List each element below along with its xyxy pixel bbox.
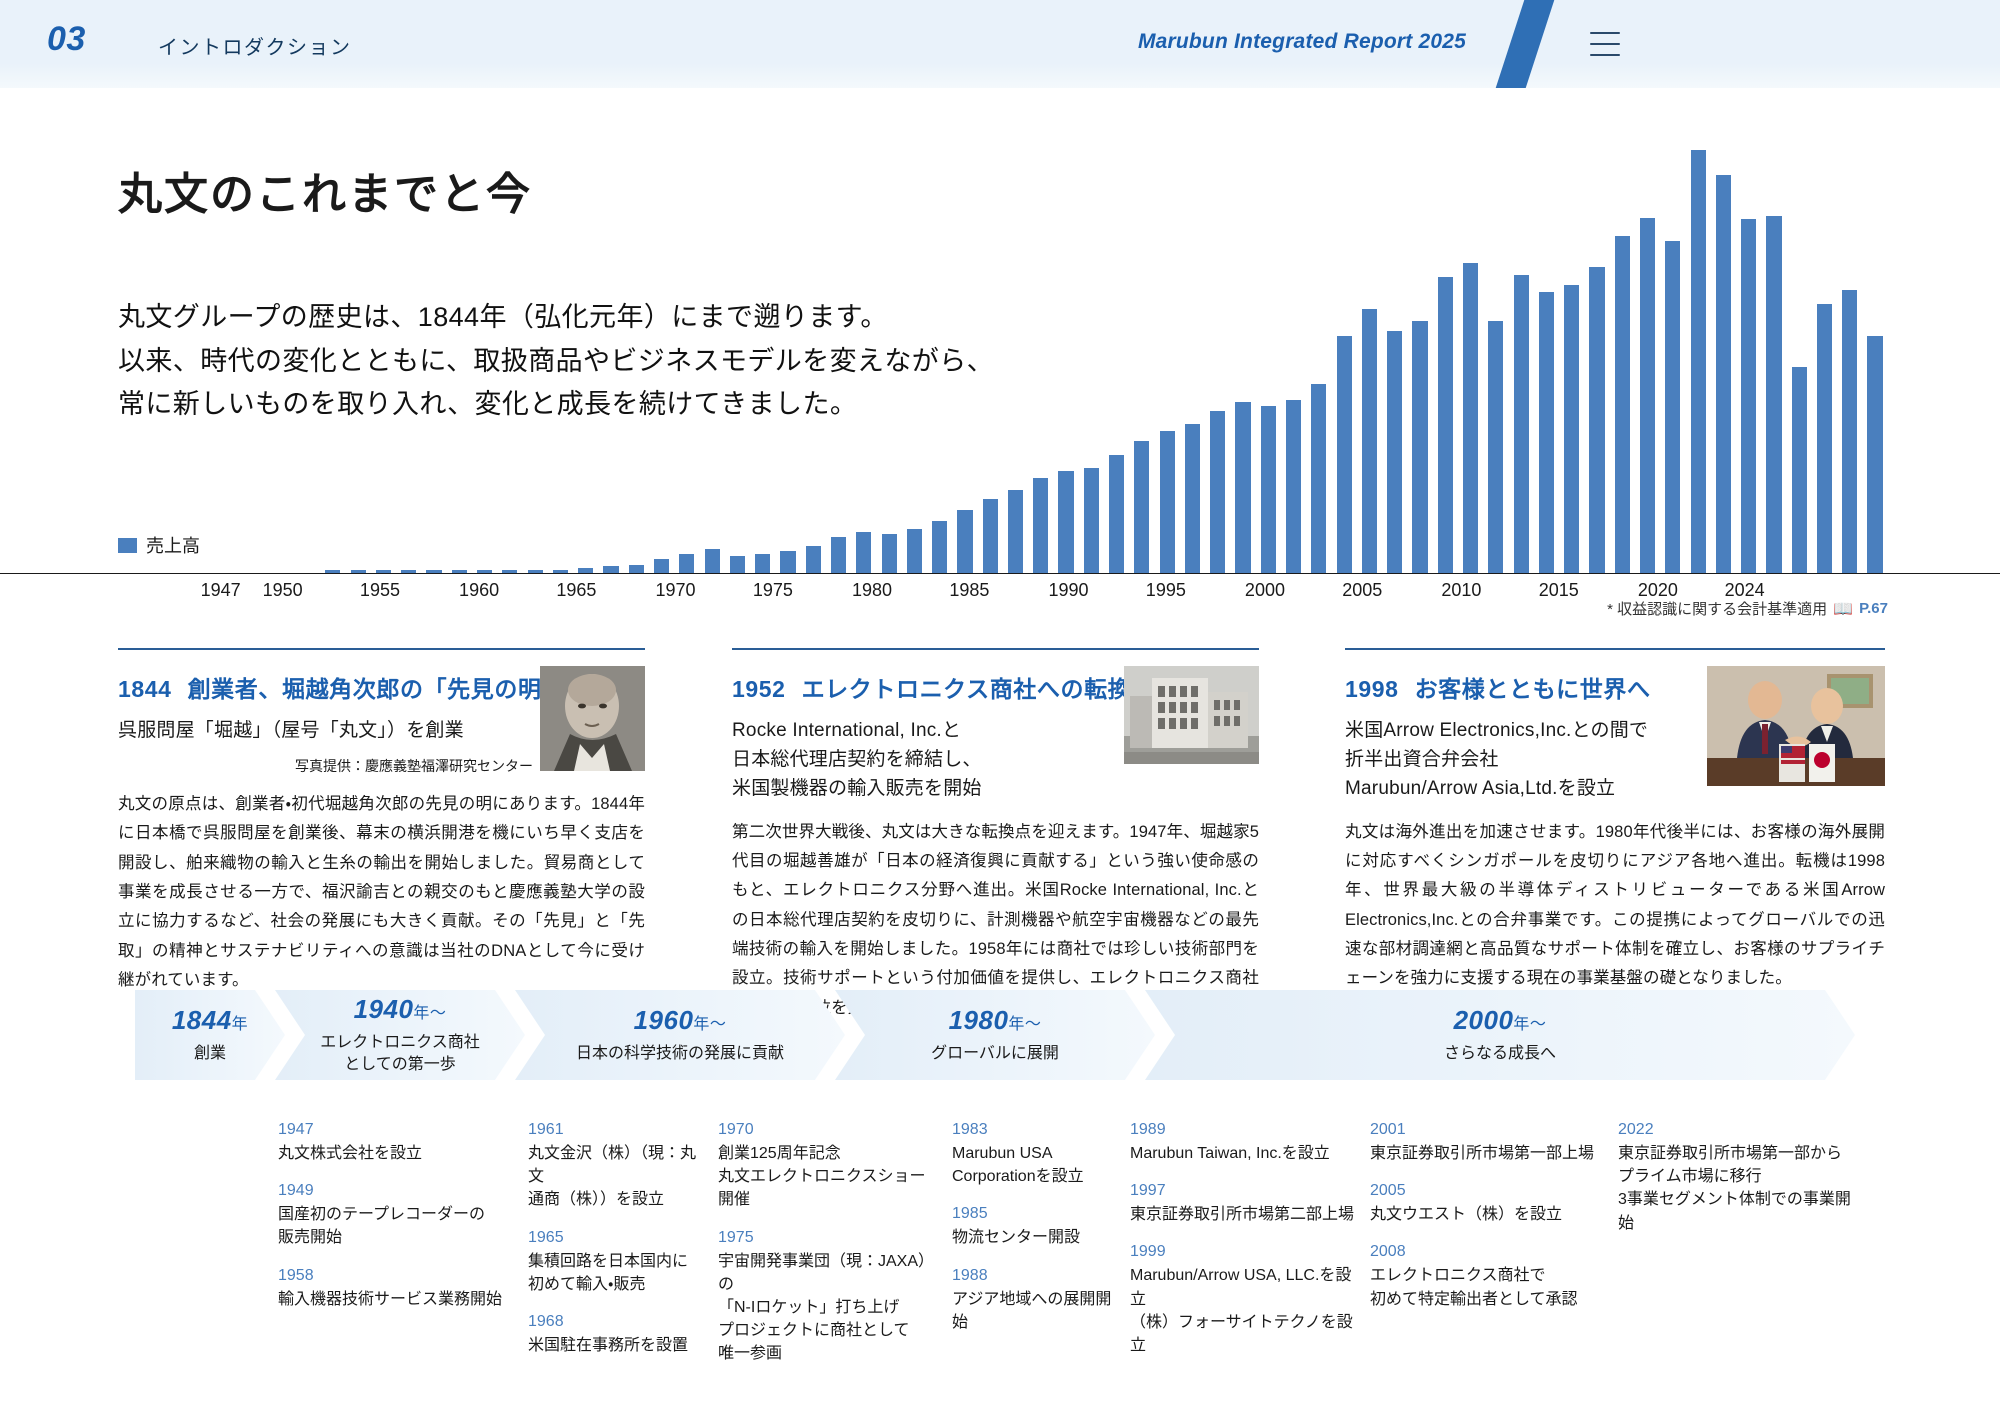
chart-bar xyxy=(983,499,998,573)
bar-slot xyxy=(1458,140,1483,573)
bar-slot xyxy=(396,140,421,573)
phase-description: 創業 xyxy=(194,1043,226,1065)
chart-bar xyxy=(1589,267,1604,573)
bar-slot xyxy=(244,140,269,573)
chart-bar xyxy=(629,565,644,573)
phase-year: 2000年～ xyxy=(1454,1005,1547,1036)
chart-bar xyxy=(730,556,745,573)
chart-bar xyxy=(1792,367,1807,573)
bar-slot xyxy=(1332,140,1357,573)
chart-bar xyxy=(1842,290,1857,573)
page-number: 03 xyxy=(47,20,86,59)
bar-slot xyxy=(1610,140,1635,573)
event-year: 1961 xyxy=(528,1118,703,1142)
card-subtitle: Rocke International, Inc.と 日本総代理店契約を締結し、… xyxy=(732,717,1132,804)
bar-slot xyxy=(1281,140,1306,573)
chart-bar xyxy=(1058,471,1073,573)
report-title: Marubun Integrated Report 2025 xyxy=(1138,30,1466,54)
bar-slot xyxy=(194,140,219,573)
event-item: 1999Marubun/Arrow USA, LLC.を設立 （株）フォーサイト… xyxy=(1130,1240,1355,1357)
event-text: 米国駐在事務所を設置 xyxy=(528,1334,703,1357)
chart-bar xyxy=(856,532,871,573)
bar-slot xyxy=(1053,140,1078,573)
chart-bar xyxy=(1640,218,1655,573)
card-heading-text: エレクトロニクス商社への転換 xyxy=(802,676,1132,702)
event-item: 1975宇宙開発事業団（現：JAXA）の 「N-Iロケット」打ち上げ プロジェク… xyxy=(718,1226,938,1366)
report-page: 03 イントロダクション Marubun Integrated Report 2… xyxy=(0,0,2000,1415)
card-body-text: 丸文の原点は、創業者・初代堀越角次郎の先見の明にあります。1844年に日本橋で呉… xyxy=(118,790,645,996)
chart-bar xyxy=(603,566,618,573)
event-item: 1968米国駐在事務所を設置 xyxy=(528,1310,703,1357)
card-top-rule xyxy=(732,648,1259,650)
timeline-phase-1980: 1980年～グローバルに展開 xyxy=(835,990,1155,1080)
bar-slot xyxy=(346,140,371,573)
event-year: 1958 xyxy=(278,1264,508,1288)
phase-description: さらなる成長へ xyxy=(1444,1043,1556,1065)
event-year: 1975 xyxy=(718,1226,938,1250)
phase-description: グローバルに展開 xyxy=(931,1043,1059,1065)
bar-slot xyxy=(270,140,295,573)
event-text: 東京証券取引所市場第一部上場 xyxy=(1370,1142,1600,1165)
event-year: 2008 xyxy=(1370,1240,1600,1264)
bar-slot xyxy=(497,140,522,573)
chart-bar xyxy=(1691,150,1706,573)
card-year: 1998 xyxy=(1345,676,1399,702)
bar-slot xyxy=(548,140,573,573)
bar-slot xyxy=(1812,140,1837,573)
bar-slot xyxy=(1003,140,1028,573)
chart-bar xyxy=(1109,455,1124,573)
bar-slot xyxy=(1230,140,1255,573)
chart-bar xyxy=(1665,241,1680,573)
event-text: 宇宙開発事業団（現：JAXA）の 「N-Iロケット」打ち上げ プロジェクトに商社… xyxy=(718,1250,938,1366)
event-item: 2001東京証券取引所市場第一部上場 xyxy=(1370,1118,1600,1165)
bar-slot xyxy=(1711,140,1736,573)
event-text: アジア地域への展開開始 xyxy=(952,1288,1122,1334)
timeline-phase-1844: 1844年創業 xyxy=(135,990,285,1080)
event-column: 1947丸文株式会社を設立1949国産初のテープレコーダーの 販売開始1958輸… xyxy=(278,1118,508,1325)
x-axis-tick-label: 1975 xyxy=(753,580,793,601)
x-axis-tick-label: 2005 xyxy=(1342,580,1382,601)
event-year: 1949 xyxy=(278,1179,508,1203)
chart-bar xyxy=(1488,321,1503,573)
event-text: 輸入機器技術サービス業務開始 xyxy=(278,1288,508,1311)
event-year: 1968 xyxy=(528,1310,703,1334)
event-item: 1989Marubun Taiwan, Inc.を設立 xyxy=(1130,1118,1355,1165)
chart-bar xyxy=(907,529,922,573)
bar-slot xyxy=(472,140,497,573)
chart-bar xyxy=(1615,236,1630,573)
chart-bar xyxy=(1741,219,1756,573)
chart-bar xyxy=(1463,263,1478,573)
chart-footnote: * 収益認識に関する会計基準適用 📖 P.67 xyxy=(1607,598,1888,619)
bar-slot xyxy=(1079,140,1104,573)
phase-year: 1940年～ xyxy=(354,994,447,1025)
event-text: 丸文金沢（株）（現：丸文 通商（株））を設立 xyxy=(528,1142,703,1212)
timeline-phase-1960: 1960年～日本の科学技術の発展に貢献 xyxy=(515,990,845,1080)
card-year: 1844 xyxy=(118,676,172,702)
bar-slot xyxy=(1104,140,1129,573)
event-year: 1988 xyxy=(952,1264,1122,1288)
chart-bar xyxy=(1867,336,1882,573)
book-icon: 📖 xyxy=(1833,599,1853,619)
event-item: 1988アジア地域への展開開始 xyxy=(952,1264,1122,1334)
bar-slot xyxy=(1660,140,1685,573)
event-item: 1949国産初のテープレコーダーの 販売開始 xyxy=(278,1179,508,1249)
chart-bar xyxy=(1235,402,1250,573)
event-item: 1970創業125周年記念 丸文エレクトロニクスショー開催 xyxy=(718,1118,938,1212)
event-text: 丸文ウエスト（株）を設立 xyxy=(1370,1203,1600,1226)
chart-bar xyxy=(705,549,720,573)
bar-slot xyxy=(750,140,775,573)
chart-plot-area xyxy=(118,140,1888,573)
bar-slot xyxy=(725,140,750,573)
chart-bar xyxy=(1210,411,1225,573)
chart-bar xyxy=(1362,309,1377,573)
bar-slot xyxy=(624,140,649,573)
chart-bar xyxy=(1514,275,1529,573)
bar-slot xyxy=(1180,140,1205,573)
event-text: 国産初のテープレコーダーの 販売開始 xyxy=(278,1203,508,1249)
bar-slot xyxy=(952,140,977,573)
x-axis-tick-label: 1965 xyxy=(556,580,596,601)
event-year: 1997 xyxy=(1130,1179,1355,1203)
section-label: イントロダクション xyxy=(158,31,352,60)
bar-slot xyxy=(1787,140,1812,573)
chart-bar xyxy=(1008,490,1023,573)
event-item: 2008エレクトロニクス商社で 初めて特定輸出者として承認 xyxy=(1370,1240,1600,1310)
bar-slot xyxy=(295,140,320,573)
history-card-1844: 1844創業者、堀越角次郎の「先見の明」 呉服問屋「堀越」（屋号「丸文」）を創業… xyxy=(118,648,645,995)
bar-slot xyxy=(1155,140,1180,573)
bar-slot xyxy=(573,140,598,573)
event-item: 2005丸文ウエスト（株）を設立 xyxy=(1370,1179,1600,1226)
event-year: 1989 xyxy=(1130,1118,1355,1142)
x-axis-tick-label: 2010 xyxy=(1441,580,1481,601)
event-year: 1999 xyxy=(1130,1240,1355,1264)
bar-slot xyxy=(1205,140,1230,573)
bar-slot xyxy=(1306,140,1331,573)
event-year: 2001 xyxy=(1370,1118,1600,1142)
event-item: 1997東京証券取引所市場第二部上場 xyxy=(1130,1179,1355,1226)
chart-bar xyxy=(806,546,821,573)
phase-description: エレクトロニクス商社 としての第一歩 xyxy=(320,1032,480,1075)
bar-slot xyxy=(1736,140,1761,573)
event-text: Marubun/Arrow USA, LLC.を設立 （株）フォーサイトテクノを… xyxy=(1130,1264,1355,1357)
chart-bar xyxy=(882,534,897,573)
event-year: 1970 xyxy=(718,1118,938,1142)
historic-building-photo xyxy=(1124,666,1259,764)
chart-bar xyxy=(1286,400,1301,573)
bar-slot xyxy=(523,140,548,573)
x-axis-tick-label: 2015 xyxy=(1539,580,1579,601)
event-year: 2005 xyxy=(1370,1179,1600,1203)
event-column: 2022東京証券取引所市場第一部から プライム市場に移行 3事業セグメント体制で… xyxy=(1618,1118,1863,1249)
event-column: 2001東京証券取引所市場第一部上場2005丸文ウエスト（株）を設立2008エレ… xyxy=(1370,1118,1600,1325)
bar-slot xyxy=(801,140,826,573)
chart-footnote-text: * 収益認識に関する会計基準適用 xyxy=(1607,598,1827,619)
bar-slot xyxy=(851,140,876,573)
event-item: 1965集積回路を日本国内に 初めて輸入・販売 xyxy=(528,1226,703,1296)
hamburger-menu-icon[interactable] xyxy=(1590,32,1620,56)
bar-slot xyxy=(1584,140,1609,573)
bar-slot xyxy=(902,140,927,573)
bar-slot xyxy=(1534,140,1559,573)
event-column: 1989Marubun Taiwan, Inc.を設立1997東京証券取引所市場… xyxy=(1130,1118,1355,1371)
x-axis-tick-label: 1950 xyxy=(263,580,303,601)
bar-slot xyxy=(1357,140,1382,573)
x-axis-tick-label: 1990 xyxy=(1048,580,1088,601)
event-column: 1983Marubun USA Corporationを設立1985物流センター… xyxy=(952,1118,1122,1348)
chart-bar xyxy=(1337,336,1352,573)
chart-bar xyxy=(1817,304,1832,573)
chart-bar xyxy=(1412,321,1427,573)
bar-slot xyxy=(1508,140,1533,573)
bar-series xyxy=(118,140,1888,573)
chart-bar xyxy=(1160,431,1175,573)
bar-slot xyxy=(775,140,800,573)
x-axis-tick-label: 1955 xyxy=(360,580,400,601)
bar-slot xyxy=(1382,140,1407,573)
sales-history-chart: 売上高 194719501955196019651970197519801985… xyxy=(0,140,2000,610)
x-axis-tick-label: 1995 xyxy=(1146,580,1186,601)
bar-slot xyxy=(927,140,952,573)
x-axis-tick-label: 1970 xyxy=(656,580,696,601)
bar-slot xyxy=(118,140,143,573)
bar-slot xyxy=(699,140,724,573)
chart-bar xyxy=(932,521,947,573)
event-item: 1958輸入機器技術サービス業務開始 xyxy=(278,1264,508,1311)
chart-bar xyxy=(1134,441,1149,573)
bar-slot xyxy=(1635,140,1660,573)
event-column: 1961丸文金沢（株）（現：丸文 通商（株））を設立1965集積回路を日本国内に… xyxy=(528,1118,703,1371)
card-top-rule xyxy=(1345,648,1885,650)
bar-slot xyxy=(876,140,901,573)
card-subtitle: 米国Arrow Electronics,Inc.との間で 折半出資合弁会社 Ma… xyxy=(1345,717,1745,804)
portrait-photo-horikoshi-kakujiro xyxy=(540,666,645,771)
bar-slot xyxy=(1256,140,1281,573)
bar-slot xyxy=(219,140,244,573)
history-card-1998: 1998お客様とともに世界へ 米国Arrow Electronics,Inc.と… xyxy=(1345,648,1885,994)
chart-bar xyxy=(654,559,669,573)
bar-slot xyxy=(826,140,851,573)
chart-bar xyxy=(957,510,972,573)
event-year: 1983 xyxy=(952,1118,1122,1142)
bar-slot xyxy=(674,140,699,573)
bar-slot xyxy=(1685,140,1710,573)
event-year: 1985 xyxy=(952,1202,1122,1226)
bar-slot xyxy=(320,140,345,573)
bar-slot xyxy=(1862,140,1887,573)
chart-bar xyxy=(1716,175,1731,573)
chart-footnote-page: P.67 xyxy=(1859,600,1888,617)
chart-bar xyxy=(1564,285,1579,573)
bar-slot xyxy=(1129,140,1154,573)
event-item: 1985物流センター開設 xyxy=(952,1202,1122,1249)
timeline-phase-1940: 1940年～エレクトロニクス商社 としての第一歩 xyxy=(275,990,525,1080)
x-axis-tick-label: 1947 xyxy=(201,580,241,601)
card-heading-text: お客様とともに世界へ xyxy=(1415,676,1651,702)
chart-bar xyxy=(1084,468,1099,573)
event-text: 集積回路を日本国内に 初めて輸入・販売 xyxy=(528,1250,703,1296)
chart-bar xyxy=(1311,384,1326,574)
chart-bar xyxy=(1539,292,1554,573)
event-item: 1983Marubun USA Corporationを設立 xyxy=(952,1118,1122,1188)
bar-slot xyxy=(1483,140,1508,573)
card-body-text: 丸文は海外進出を加速させます。1980年代後半には、お客様の海外展開に対応すべく… xyxy=(1345,818,1885,994)
event-text: Marubun Taiwan, Inc.を設立 xyxy=(1130,1142,1355,1165)
timeline-events: 1947丸文株式会社を設立1949国産初のテープレコーダーの 販売開始1958輸… xyxy=(0,1118,2000,1398)
timeline-phase-2000: 2000年～さらなる成長へ xyxy=(1145,990,1855,1080)
chart-bar xyxy=(1766,216,1781,573)
card-subtitle: 呉服問屋「堀越」（屋号「丸文」）を創業 xyxy=(118,717,518,746)
chart-bar xyxy=(1387,331,1402,573)
event-text: エレクトロニクス商社で 初めて特定輸出者として承認 xyxy=(1370,1264,1600,1310)
chart-bar xyxy=(1033,478,1048,573)
chart-bar xyxy=(1261,406,1276,574)
history-card-1952: 1952エレクトロニクス商社への転換 Rocke International, … xyxy=(732,648,1259,1023)
event-item: 1947丸文株式会社を設立 xyxy=(278,1118,508,1165)
x-axis-tick-label: 1985 xyxy=(949,580,989,601)
chart-bar xyxy=(679,554,694,573)
bar-slot xyxy=(1559,140,1584,573)
bar-slot xyxy=(1761,140,1786,573)
bar-slot xyxy=(1837,140,1862,573)
bar-slot xyxy=(371,140,396,573)
event-item: 1961丸文金沢（株）（現：丸文 通商（株））を設立 xyxy=(528,1118,703,1212)
bar-slot xyxy=(447,140,472,573)
chart-bar xyxy=(1185,424,1200,573)
event-text: 創業125周年記念 丸文エレクトロニクスショー開催 xyxy=(718,1142,938,1212)
chart-x-axis-line xyxy=(0,573,2000,574)
x-axis-tick-label: 1980 xyxy=(852,580,892,601)
timeline-phase-row: 1844年創業1940年～エレクトロニクス商社 としての第一歩1960年～日本の… xyxy=(135,990,1895,1080)
card-heading-text: 創業者、堀越角次郎の「先見の明」 xyxy=(188,676,566,702)
bar-slot xyxy=(1028,140,1053,573)
event-text: 東京証券取引所市場第二部上場 xyxy=(1130,1203,1355,1226)
x-axis-tick-label: 1960 xyxy=(459,580,499,601)
page-header: 03 イントロダクション Marubun Integrated Report 2… xyxy=(0,0,2000,88)
event-text: 東京証券取引所市場第一部から プライム市場に移行 3事業セグメント体制での事業開… xyxy=(1618,1142,1863,1235)
event-column: 1970創業125周年記念 丸文エレクトロニクスショー開催1975宇宙開発事業団… xyxy=(718,1118,938,1380)
bar-slot xyxy=(1433,140,1458,573)
card-top-rule xyxy=(118,648,645,650)
phase-year: 1980年～ xyxy=(949,1005,1042,1036)
bar-slot xyxy=(1407,140,1432,573)
handshake-signing-ceremony-photo xyxy=(1707,666,1885,786)
event-item: 2022東京証券取引所市場第一部から プライム市場に移行 3事業セグメント体制で… xyxy=(1618,1118,1863,1235)
event-text: Marubun USA Corporationを設立 xyxy=(952,1142,1122,1188)
phase-description: 日本の科学技術の発展に貢献 xyxy=(576,1043,784,1065)
chart-bar xyxy=(831,537,846,573)
bar-slot xyxy=(598,140,623,573)
card-year: 1952 xyxy=(732,676,786,702)
event-text: 物流センター開設 xyxy=(952,1226,1122,1249)
bar-slot xyxy=(169,140,194,573)
bar-slot xyxy=(649,140,674,573)
event-year: 1947 xyxy=(278,1118,508,1142)
phase-year: 1844年 xyxy=(172,1005,248,1036)
event-text: 丸文株式会社を設立 xyxy=(278,1142,508,1165)
bar-slot xyxy=(978,140,1003,573)
slash-decoration xyxy=(1496,0,1555,88)
bar-slot xyxy=(421,140,446,573)
chart-bar xyxy=(780,551,795,573)
x-axis-tick-label: 2000 xyxy=(1245,580,1285,601)
bar-slot xyxy=(143,140,168,573)
chart-bar xyxy=(1438,277,1453,573)
chart-bar xyxy=(755,554,770,573)
phase-year: 1960年～ xyxy=(634,1005,727,1036)
event-year: 2022 xyxy=(1618,1118,1863,1142)
event-year: 1965 xyxy=(528,1226,703,1250)
